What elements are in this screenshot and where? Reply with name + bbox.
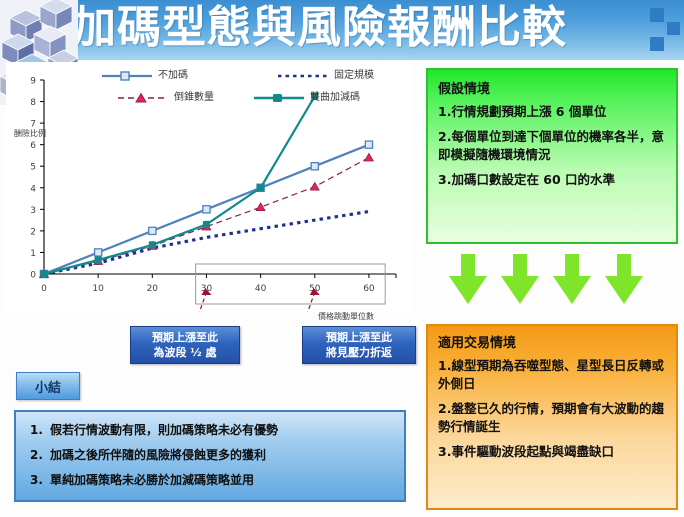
down-arrow-icon	[602, 252, 646, 306]
assumptions-panel: 假設情境 1.行情規劃預期上漲 6 個單位 2.每個單位到達下個單位的機率各半，…	[426, 68, 678, 244]
chart-legend: 不加碼 固定規模 倒錐數量 雙曲加減碼	[100, 70, 410, 112]
svg-text:0: 0	[41, 284, 47, 294]
svg-text:8: 8	[30, 98, 36, 108]
svg-text:60: 60	[363, 284, 375, 294]
chart-x-axis-title: 價格跳動單位數	[318, 311, 374, 322]
summary-box: 1.假若行情波動有限，則加碼策略未必有優勢 2.加碼之後所伴隨的風險將侵蝕更多的…	[14, 410, 406, 502]
svg-text:3: 3	[30, 206, 36, 216]
assumptions-item-1: 2.每個單位到達下個單位的機率各半，意即模擬隨機環境情況	[438, 128, 666, 164]
page-title: 加碼型態與風險報酬比較	[72, 0, 567, 58]
callout-right: 預期上漲至此 將見壓力折返	[302, 326, 416, 364]
assumptions-item-2: 3.加碼口數設定在 60 口的水準	[438, 171, 666, 189]
svg-text:7: 7	[30, 120, 36, 130]
svg-text:1: 1	[30, 249, 36, 259]
summary-item-2-num: 3.	[30, 468, 50, 493]
svg-text:5: 5	[30, 163, 36, 173]
summary-item-1-num: 2.	[30, 443, 50, 468]
title-decoration-squares	[646, 6, 680, 56]
down-arrow-icon	[498, 252, 542, 306]
trading-scenarios-item-0: 1.線型預期為吞噬型態、星型長日反轉或外側日	[438, 357, 666, 393]
assumptions-item-0: 1.行情規劃預期上漲 6 個單位	[438, 103, 666, 121]
summary-item-1-text: 加碼之後所伴隨的風險將侵蝕更多的獲利	[50, 448, 266, 462]
slide-root: 加碼型態與風險報酬比較	[0, 0, 684, 517]
legend-symbol-dotted-icon	[276, 70, 330, 82]
list-item: 1.假若行情波動有限，則加碼策略未必有優勢	[30, 418, 396, 443]
assumptions-heading: 假設情境	[438, 78, 666, 97]
svg-text:4: 4	[30, 184, 36, 194]
callout-right-line2: 將見壓力折返	[309, 345, 409, 360]
legend-symbol-line-square-icon	[100, 70, 154, 82]
svg-text:6: 6	[30, 141, 36, 151]
summary-list: 1.假若行情波動有限，則加碼策略未必有優勢 2.加碼之後所伴隨的風險將侵蝕更多的…	[24, 418, 396, 493]
trading-scenarios-item-1: 2.盤整已久的行情，預期會有大波動的趨勢行情誕生	[438, 400, 666, 436]
callout-left: 預期上漲至此 為波段 ½ 處	[130, 326, 240, 364]
svg-text:40: 40	[255, 284, 267, 294]
callout-left-line2: 為波段 ½ 處	[137, 345, 233, 360]
legend-symbol-solid-marker-icon	[252, 92, 306, 104]
legend-label-1: 固定規模	[334, 66, 374, 81]
svg-text:10: 10	[92, 284, 104, 294]
svg-text:0: 0	[30, 271, 36, 281]
svg-text:9: 9	[30, 77, 36, 87]
svg-text:20: 20	[147, 284, 159, 294]
down-arrows-group	[440, 252, 670, 308]
title-bar: 加碼型態與風險報酬比較	[0, 0, 684, 60]
summary-item-2-text: 單純加碼策略未必勝於加減碼策略並用	[50, 473, 254, 487]
svg-text:2: 2	[30, 227, 36, 237]
list-item: 2.加碼之後所伴隨的風險將侵蝕更多的獲利	[30, 443, 396, 468]
legend-label-0: 不加碼	[158, 66, 188, 81]
summary-tab-label: 小結	[16, 372, 80, 400]
down-arrow-icon	[446, 252, 490, 306]
trading-scenarios-item-2: 3.事件驅動波段起點與竭盡缺口	[438, 443, 666, 461]
legend-label-2: 倒錐數量	[174, 88, 214, 103]
trading-scenarios-panel: 適用交易情境 1.線型預期為吞噬型態、星型長日反轉或外側日 2.盤整已久的行情，…	[426, 324, 678, 510]
down-arrow-icon	[550, 252, 594, 306]
callout-left-line1: 預期上漲至此	[137, 330, 233, 345]
summary-item-0-num: 1.	[30, 418, 50, 443]
list-item: 3.單純加碼策略未必勝於加減碼策略並用	[30, 468, 396, 493]
legend-label-3: 雙曲加減碼	[310, 88, 360, 103]
trading-scenarios-heading: 適用交易情境	[438, 332, 666, 351]
callout-right-line1: 預期上漲至此	[309, 330, 409, 345]
summary-item-0-text: 假若行情波動有限，則加碼策略未必有優勢	[50, 423, 278, 437]
legend-symbol-dashed-triangle-icon	[116, 92, 170, 104]
